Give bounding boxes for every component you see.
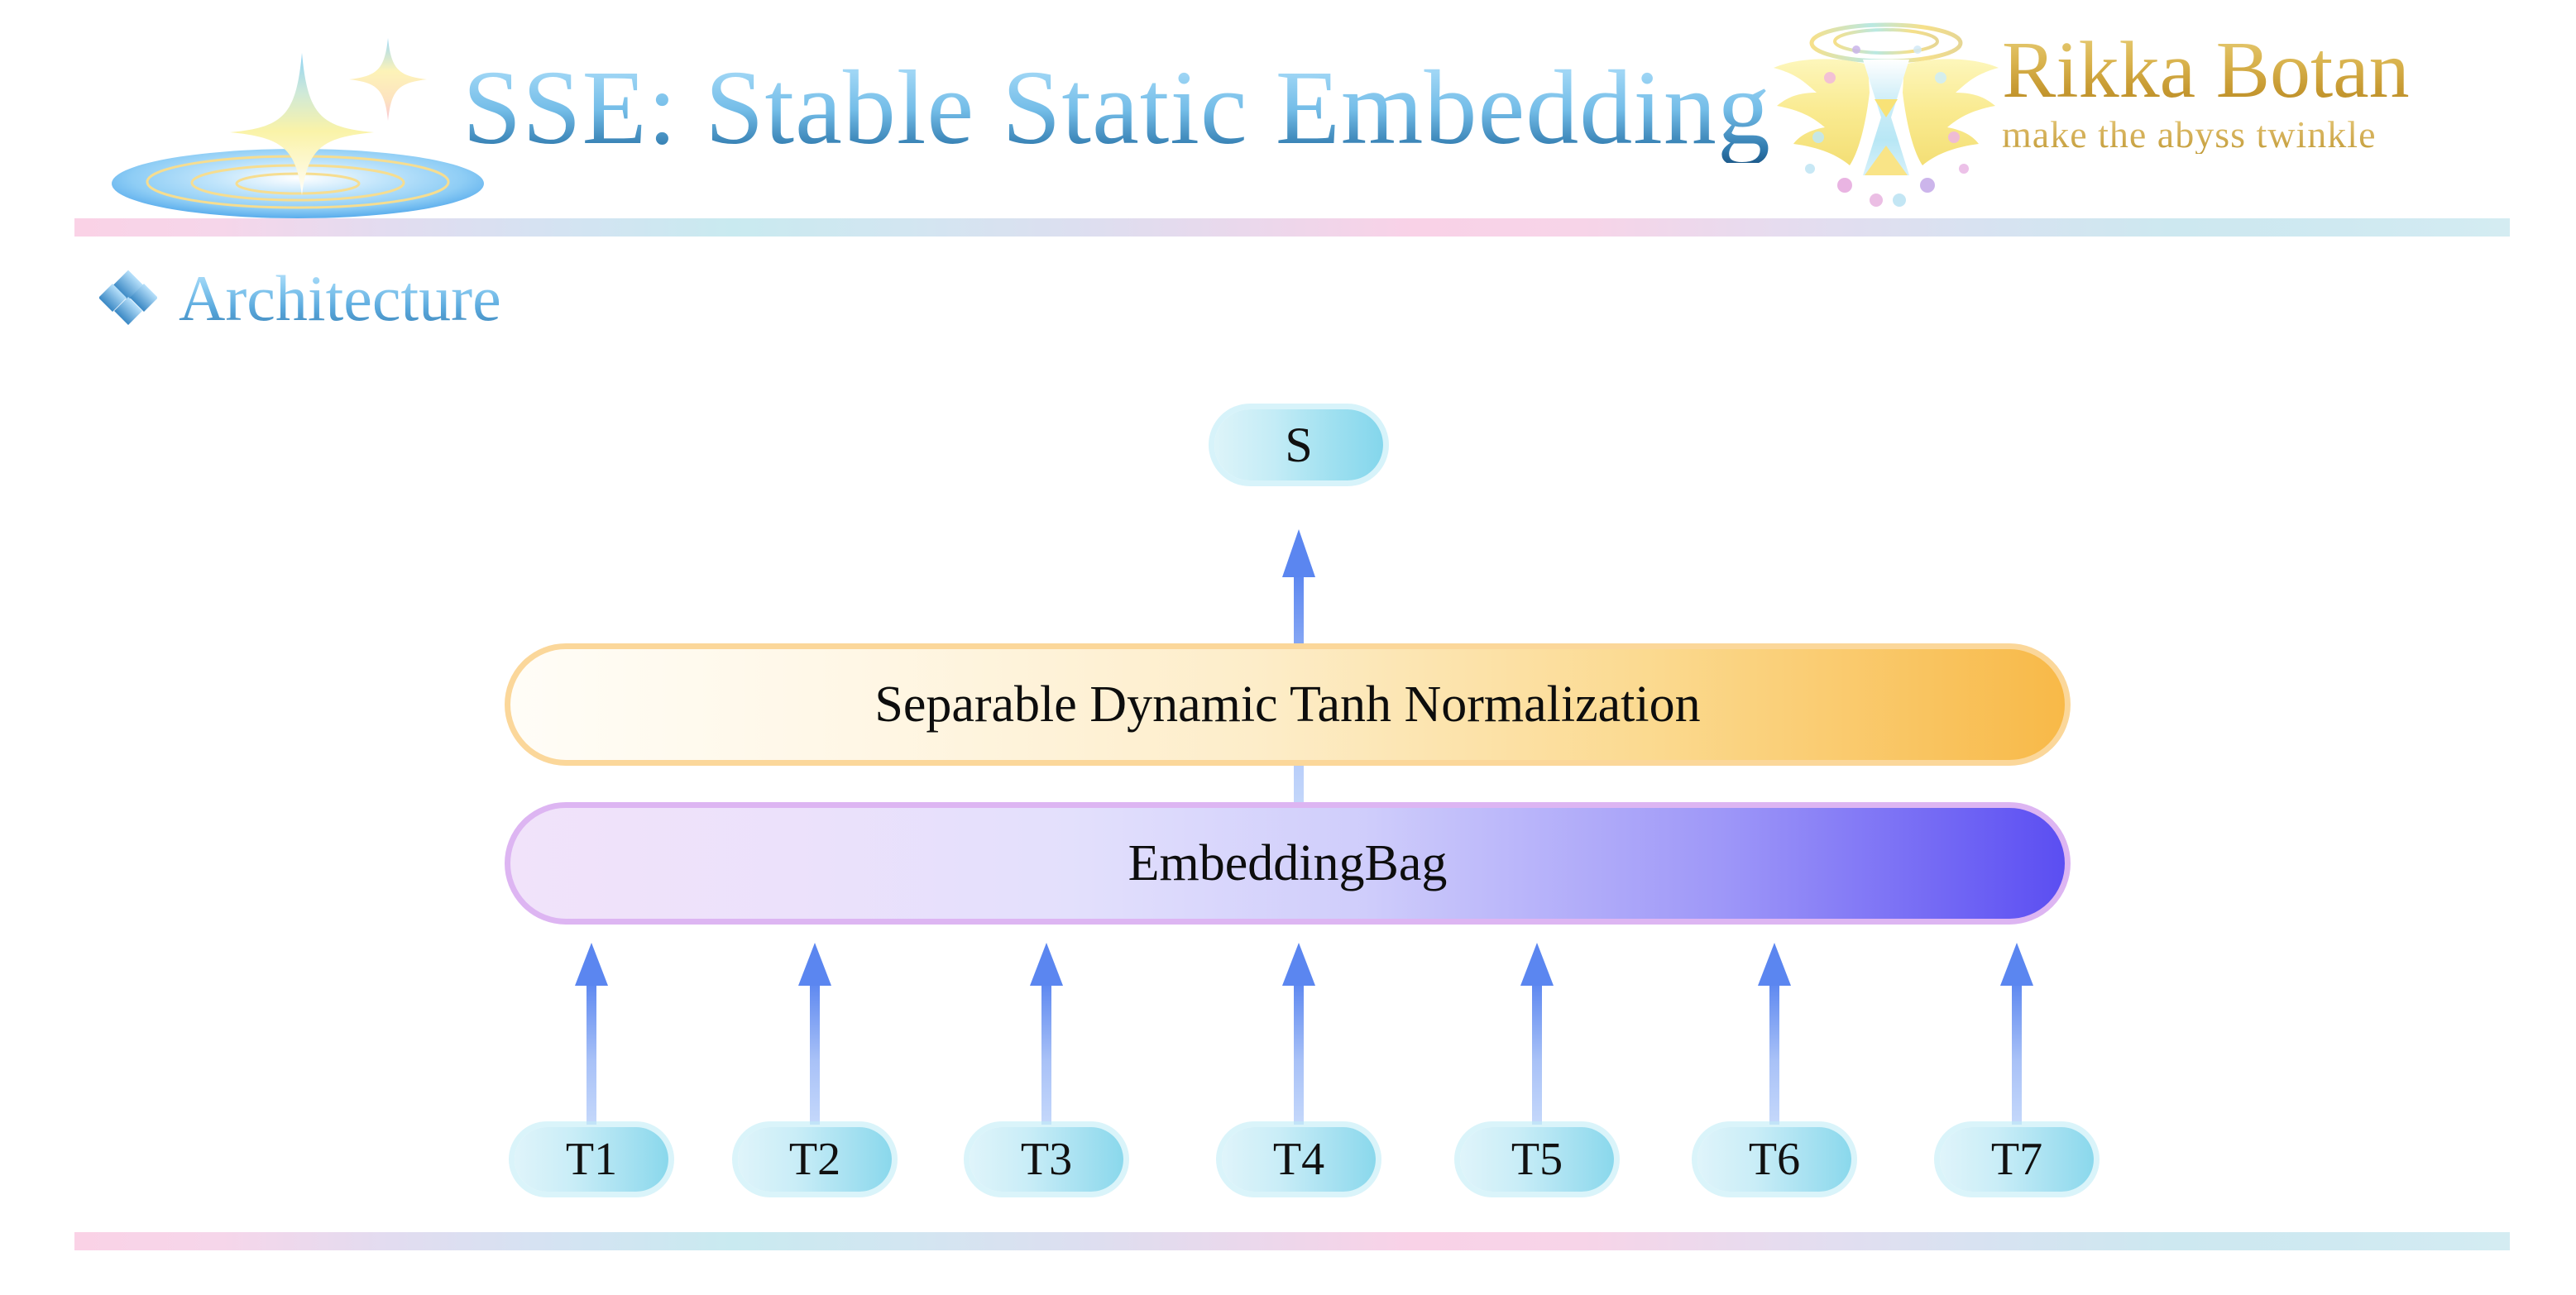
token-pill-t2[interactable]: T2 <box>738 1127 892 1192</box>
up-arrow-icon-t5 <box>1520 943 1554 1125</box>
layer-embeddingbag[interactable]: EmbeddingBag <box>505 802 2071 925</box>
layer-embeddingbag-label: EmbeddingBag <box>1128 838 1448 889</box>
token-pill-t6[interactable]: T6 <box>1697 1127 1851 1192</box>
up-arrow-icon-t3 <box>1030 943 1063 1125</box>
token-label: T4 <box>1273 1136 1324 1183</box>
architecture-diagram: S Separable Dynamic Tanh Normalization E… <box>0 0 2576 1295</box>
up-arrow-icon-t7 <box>2000 943 2033 1125</box>
token-pill-t4[interactable]: T4 <box>1222 1127 1376 1192</box>
layer-dytanh[interactable]: Separable Dynamic Tanh Normalization <box>505 643 2071 766</box>
token-label: T1 <box>566 1136 617 1183</box>
token-pill-t1[interactable]: T1 <box>515 1127 668 1192</box>
layer-dytanh-label: Separable Dynamic Tanh Normalization <box>874 679 1700 730</box>
token-label: T7 <box>1991 1136 2042 1183</box>
token-label: T6 <box>1749 1136 1800 1183</box>
node-output-s[interactable]: S <box>1214 409 1383 480</box>
divider-bottom <box>74 1232 2510 1250</box>
token-label: T3 <box>1021 1136 1072 1183</box>
token-pill-t5[interactable]: T5 <box>1460 1127 1614 1192</box>
token-label: T2 <box>789 1136 840 1183</box>
token-pill-t3[interactable]: T3 <box>970 1127 1123 1192</box>
up-arrow-icon-t1 <box>575 943 608 1125</box>
token-pill-t7[interactable]: T7 <box>1940 1127 2094 1192</box>
up-arrow-icon-t6 <box>1758 943 1791 1125</box>
node-output-label: S <box>1285 420 1312 470</box>
token-label: T5 <box>1511 1136 1563 1183</box>
up-arrow-icon-t4 <box>1282 943 1315 1125</box>
up-arrow-icon-t2 <box>798 943 831 1125</box>
